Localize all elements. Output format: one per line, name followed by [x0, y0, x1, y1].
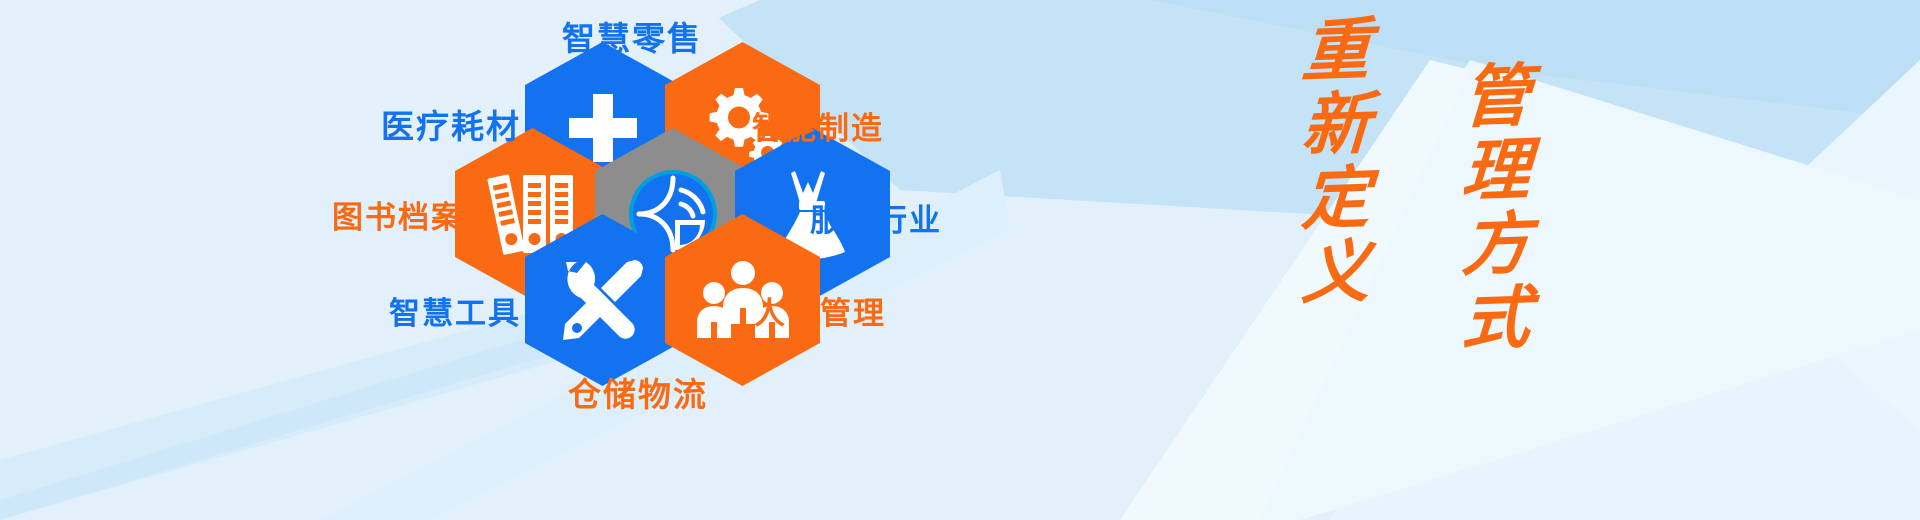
slogan-char: 重	[1300, 13, 1372, 89]
label-medical: 医疗耗材	[381, 100, 521, 148]
slogan-char: 定	[1300, 161, 1372, 237]
label-tools: 智慧工具	[389, 288, 521, 333]
label-people: 人员管理	[754, 288, 886, 333]
label-manufacturing: 智能制造	[752, 103, 884, 148]
slogan-block: 重 新 定 义 管 理 方 式	[1280, 0, 1680, 520]
label-apparel: 服装行业	[810, 195, 942, 240]
label-warehouse: 仓储物流	[568, 368, 708, 416]
slogan-column-right: 管 理 方 式	[1462, 60, 1530, 356]
slogan-char: 理	[1460, 133, 1532, 209]
slogan-char: 管	[1460, 59, 1532, 135]
label-books-archive: 图书档案	[332, 192, 464, 237]
label-retail: 智慧零售	[562, 12, 702, 60]
slogan-char: 式	[1460, 281, 1532, 357]
wrench-screwdriver-icon	[557, 254, 649, 346]
slogan-char: 义	[1300, 235, 1372, 311]
slogan-char: 方	[1460, 207, 1532, 283]
promo-banner: 智慧零售 医疗耗材 智能制造 图书档案 服装行业 智慧工具 人员管理 仓储物流 …	[0, 0, 1920, 520]
slogan-char: 新	[1300, 87, 1372, 163]
slogan-column-left: 重 新 定 义	[1302, 14, 1370, 310]
